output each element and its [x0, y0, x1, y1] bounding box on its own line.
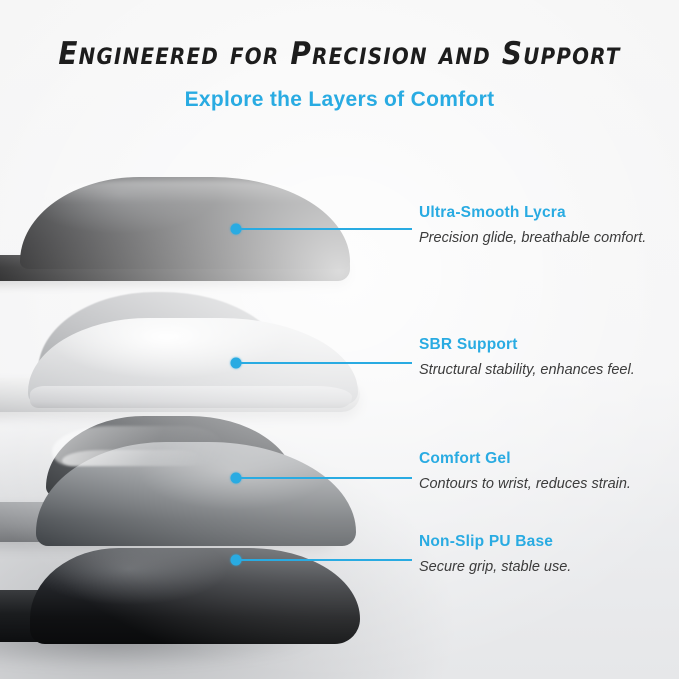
- page-subtitle: Explore the Layers of Comfort: [0, 88, 679, 112]
- callout-text-pu-base: Non-Slip PU Base Secure grip, stable use…: [419, 533, 669, 578]
- layer-sbr-lip: [30, 386, 352, 408]
- header-block: Engineered for Precision and Support Exp…: [0, 36, 679, 112]
- callout-title-sbr: SBR Support: [419, 336, 669, 354]
- callout-text-gel: Comfort Gel Contours to wrist, reduces s…: [419, 450, 669, 495]
- callout-desc-pu-base: Secure grip, stable use.: [419, 558, 669, 578]
- callout-title-gel: Comfort Gel: [419, 450, 669, 468]
- leader-line-lycra: [236, 228, 412, 230]
- callout-title-lycra: Ultra-Smooth Lycra: [419, 204, 669, 222]
- leader-line-gel: [236, 477, 412, 479]
- callout-desc-sbr: Structural stability, enhances feel.: [419, 361, 669, 381]
- product-layer-stack: [0, 150, 420, 650]
- callout-text-sbr: SBR Support Structural stability, enhanc…: [419, 336, 669, 381]
- callout-text-lycra: Ultra-Smooth Lycra Precision glide, brea…: [419, 204, 669, 249]
- layer-gel-highlight-secondary: [62, 450, 202, 466]
- leader-line-sbr: [236, 362, 412, 364]
- page-title: Engineered for Precision and Support: [34, 36, 645, 72]
- callout-title-pu-base: Non-Slip PU Base: [419, 533, 669, 551]
- leader-line-pu-base: [236, 559, 412, 561]
- layer-lycra-highlight: [40, 181, 310, 203]
- infographic-canvas: Engineered for Precision and Support Exp…: [0, 0, 679, 679]
- callout-desc-gel: Contours to wrist, reduces strain.: [419, 475, 669, 495]
- layer-pu-dome: [30, 548, 360, 644]
- callout-desc-lycra: Precision glide, breathable comfort.: [419, 229, 669, 249]
